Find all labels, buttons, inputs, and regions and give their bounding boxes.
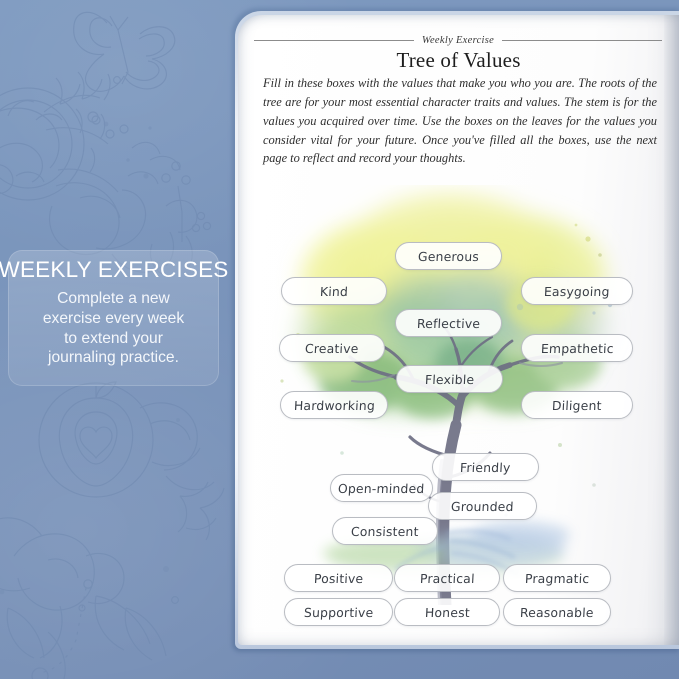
weekly-exercises-promo-panel: WEEKLY EXERCISES Complete a new exercise… [8,250,219,386]
promo-body-line: to extend your [43,329,184,349]
value-box-open-minded[interactable]: Open-minded [330,474,433,502]
value-box-label: Pragmatic [524,571,589,586]
value-box-diligent[interactable]: Diligent [521,391,633,419]
value-box-kind[interactable]: Kind [281,277,387,305]
value-box-creative[interactable]: Creative [279,334,385,362]
value-box-label: Reflective [417,316,481,331]
page-header: Weekly Exercise [254,35,662,46]
value-box-label: Hardworking [293,398,375,413]
value-box-flexible[interactable]: Flexible [396,365,503,393]
value-box-label: Supportive [303,605,373,620]
value-box-reasonable[interactable]: Reasonable [503,598,611,626]
value-box-label: Generous [418,249,480,264]
value-box-supportive[interactable]: Supportive [284,598,393,626]
value-box-generous[interactable]: Generous [395,242,502,270]
value-box-label: Empathetic [540,341,614,356]
value-box-label: Friendly [460,460,511,475]
value-box-label: Grounded [451,499,514,514]
value-box-label: Positive [313,571,363,586]
value-box-label: Diligent [552,398,602,413]
page-intro-text: Fill in these boxes with the values that… [263,74,657,168]
value-box-positive[interactable]: Positive [284,564,393,592]
value-box-honest[interactable]: Honest [394,598,500,626]
header-rule-left [254,40,414,41]
header-rule-right [502,40,662,41]
value-box-label: Kind [320,284,349,299]
value-box-grounded[interactable]: Grounded [428,492,537,520]
value-box-label: Practical [419,571,474,586]
promo-title: WEEKLY EXERCISES [0,258,228,282]
promo-body-line: journaling practice. [43,348,184,368]
value-box-label: Consistent [351,524,419,539]
value-box-friendly[interactable]: Friendly [432,453,539,481]
value-box-hardworking[interactable]: Hardworking [280,391,388,419]
value-box-label: Easygoing [544,284,610,299]
value-box-label: Open-minded [338,481,425,496]
value-box-easygoing[interactable]: Easygoing [521,277,633,305]
value-box-empathetic[interactable]: Empathetic [521,334,633,362]
value-box-reflective[interactable]: Reflective [395,309,502,337]
value-box-label: Reasonable [520,605,594,620]
journal-page: Weekly Exercise Tree of Values Fill in t… [238,15,679,645]
value-box-label: Flexible [424,372,474,387]
value-box-consistent[interactable]: Consistent [332,517,438,545]
promo-body: Complete a new exercise every week to ex… [43,289,184,369]
promo-body-line: Complete a new [43,289,184,309]
value-box-label: Creative [305,341,359,356]
page-title: Tree of Values [238,48,679,73]
promo-body-line: exercise every week [43,309,184,329]
page-kicker: Weekly Exercise [422,35,494,46]
value-box-label: Honest [424,605,470,620]
value-box-practical[interactable]: Practical [394,564,500,592]
journal-spread: WEEKLY EXERCISES Complete a new exercise… [0,0,679,679]
value-box-pragmatic[interactable]: Pragmatic [503,564,611,592]
